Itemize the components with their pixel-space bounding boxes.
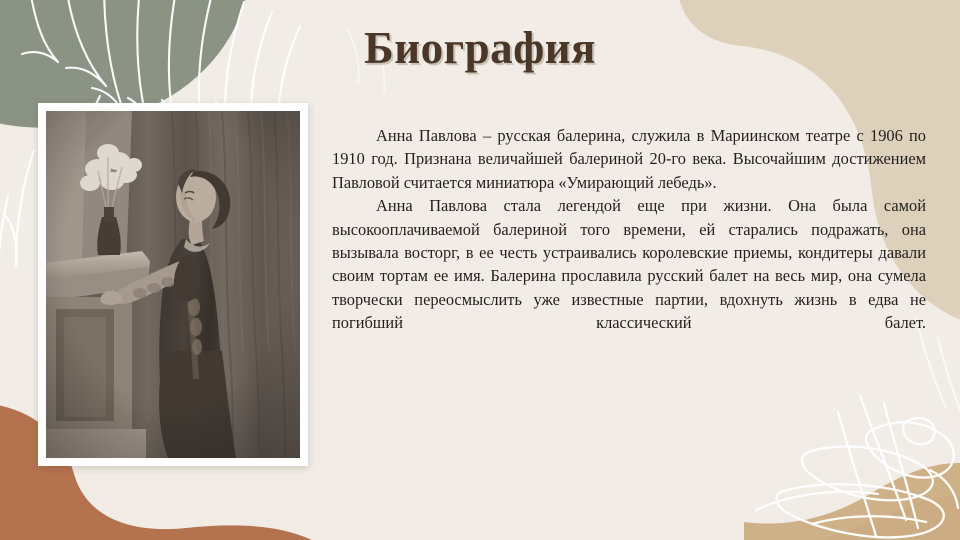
tan-wave-shape-2	[690, 495, 960, 540]
paragraph-2: Анна Павлова стала легендой еще при жизн…	[332, 194, 926, 358]
pavlova-photograph	[46, 111, 300, 458]
tan-wave-shape	[744, 463, 960, 540]
paragraph-1: Анна Павлова – русская балерина, служила…	[332, 124, 926, 194]
slide-title: Биография	[0, 22, 960, 74]
photo-frame	[38, 103, 308, 466]
presentation-slide: Биография	[0, 0, 960, 540]
biography-text: Анна Павлова – русская балерина, служила…	[332, 124, 926, 358]
leaf-line-art-bottom-right	[756, 396, 958, 537]
